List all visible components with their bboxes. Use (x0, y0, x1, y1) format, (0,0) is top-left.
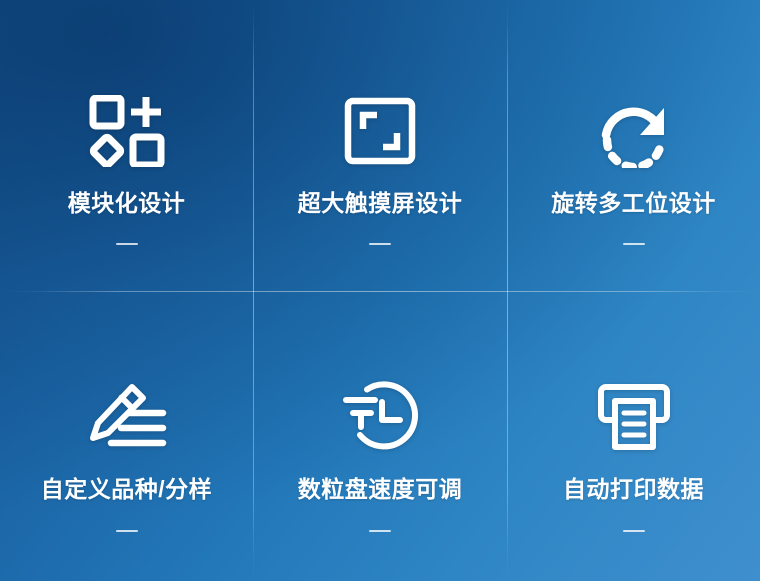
feature-label: 模块化设计 (68, 190, 186, 218)
feature-grid: 模块化设计 超大触摸屏设计 (0, 0, 760, 581)
feature-underline (623, 243, 645, 245)
printer-icon (586, 374, 682, 460)
speed-clock-icon (332, 374, 428, 460)
feature-cell-modular-design[interactable]: 模块化设计 (0, 0, 253, 291)
feature-highlight-panel: 模块化设计 超大触摸屏设计 (0, 0, 760, 581)
pencil-list-icon (79, 374, 175, 460)
feature-label: 自定义品种/分样 (41, 476, 212, 504)
feature-cell-large-touchscreen[interactable]: 超大触摸屏设计 (253, 0, 507, 291)
feature-cell-rotary-multi-station[interactable]: 旋转多工位设计 (507, 0, 760, 291)
feature-label: 数粒盘速度可调 (298, 476, 463, 504)
feature-cell-auto-print-data[interactable]: 自动打印数据 (507, 291, 760, 581)
feature-cell-custom-variety-sampling[interactable]: 自定义品种/分样 (0, 291, 253, 581)
rotate-arrow-icon (586, 88, 682, 174)
touchscreen-expand-icon (332, 88, 428, 174)
feature-label: 旋转多工位设计 (551, 190, 716, 218)
feature-underline (369, 243, 391, 245)
feature-underline (623, 530, 645, 532)
feature-underline (116, 243, 138, 245)
feature-label: 超大触摸屏设计 (298, 190, 463, 218)
feature-cell-adjustable-tray-speed[interactable]: 数粒盘速度可调 (253, 291, 507, 581)
modular-blocks-icon (79, 88, 175, 174)
feature-underline (369, 530, 391, 532)
feature-underline (116, 530, 138, 532)
feature-label: 自动打印数据 (563, 476, 704, 504)
